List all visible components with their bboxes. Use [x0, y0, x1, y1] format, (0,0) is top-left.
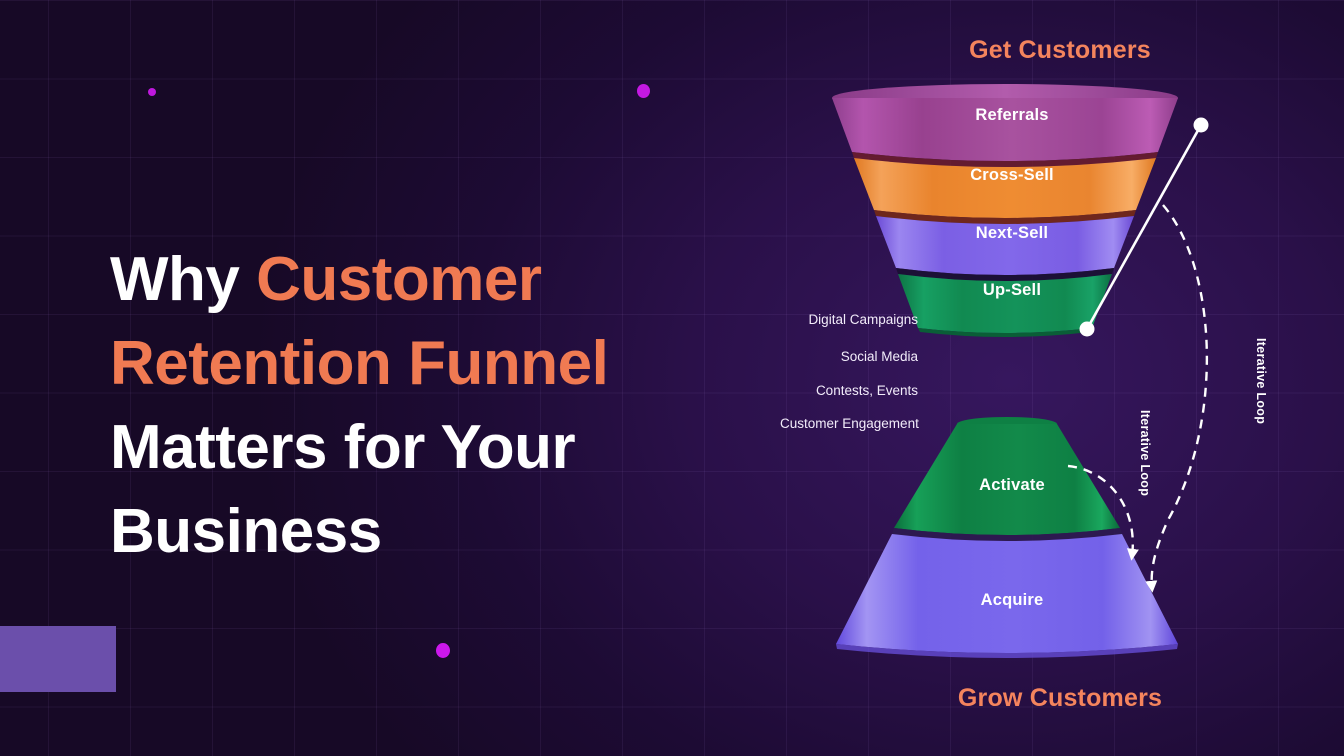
- headline-line1-plain: Why: [110, 245, 256, 314]
- iterative-loop-label-inner: Iterative Loop: [1138, 410, 1152, 496]
- top-funnel-shape: [832, 84, 1178, 337]
- decorative-dot-3: [436, 643, 450, 658]
- side-item-customer-engagement: Customer Engagement: [780, 416, 918, 431]
- slide-canvas: Why CustomerRetention FunnelMatters for …: [0, 0, 1344, 756]
- iterative-loop-arrow-outer: [1152, 205, 1207, 588]
- side-item-digital-campaigns: Digital Campaigns: [780, 312, 918, 327]
- iterative-loop-label-outer: Iterative Loop: [1254, 338, 1268, 424]
- decorative-dot-1: [148, 88, 156, 96]
- side-item-contests-events: Contests, Events: [780, 383, 918, 398]
- page-title: Why CustomerRetention FunnelMatters for …: [110, 238, 710, 574]
- headline-line3: Matters for Your: [110, 413, 575, 482]
- side-item-social-media: Social Media: [780, 349, 918, 364]
- headline-line2-accent: Retention Funnel: [110, 329, 608, 398]
- headline-line1-accent: Customer: [256, 245, 541, 314]
- headline-line4: Business: [110, 497, 382, 566]
- decorative-accent-rectangle: [0, 626, 116, 692]
- decorative-dot-2: [637, 84, 650, 98]
- bottom-funnel-shape: [836, 417, 1178, 658]
